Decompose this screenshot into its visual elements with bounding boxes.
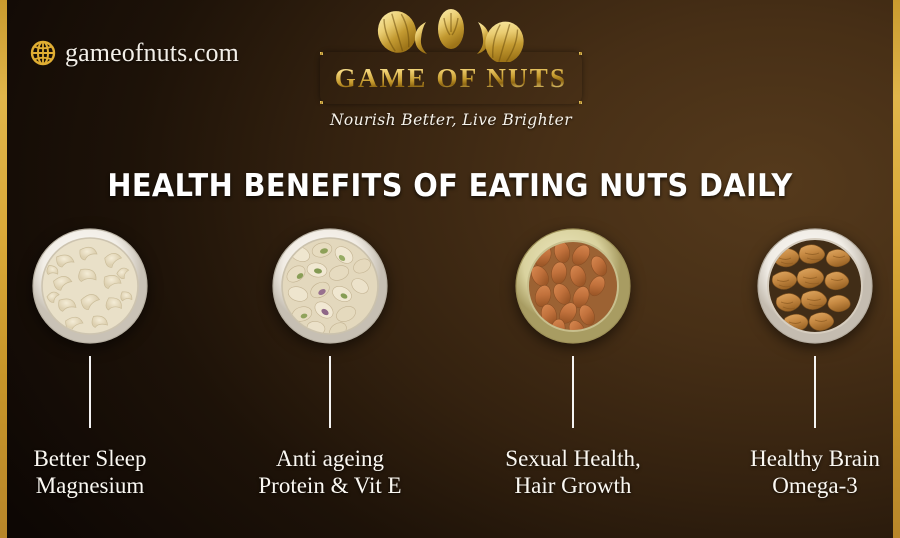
globe-icon xyxy=(30,40,56,66)
logo-frame: GAME OF NUTS xyxy=(320,52,582,104)
benefit-caption: Healthy Brain Omega-3 xyxy=(705,446,900,499)
right-gold-border xyxy=(893,0,900,538)
benefit-caption: Anti ageing Protein & Vit E xyxy=(220,446,440,499)
connector-line xyxy=(89,356,91,428)
cashew-bowl-icon xyxy=(32,228,148,344)
benefits-row: Better Sleep Magnesium xyxy=(0,228,900,528)
website-label: gameofnuts.com xyxy=(30,38,239,68)
benefit-item-cashews: Better Sleep Magnesium xyxy=(0,228,200,499)
benefit-line-2: Omega-3 xyxy=(705,473,900,500)
benefit-line-1: Anti ageing xyxy=(276,446,384,471)
logo-name-text: GAME OF NUTS xyxy=(335,63,567,94)
brand-logo: GAME OF NUTS Nourish Better, Live Bright… xyxy=(306,4,596,129)
walnut-bowl-icon xyxy=(757,228,873,344)
pistachio-bowl-icon xyxy=(272,228,388,344)
connector-line xyxy=(814,356,816,428)
left-gold-border xyxy=(0,0,7,538)
website-url-text: gameofnuts.com xyxy=(65,38,239,68)
connector-line xyxy=(572,356,574,428)
benefit-line-2: Protein & Vit E xyxy=(220,473,440,500)
benefit-line-2: Hair Growth xyxy=(463,473,683,500)
page-title: HEALTH BENEFITS OF EATING NUTS DAILY xyxy=(32,168,869,204)
benefit-line-1: Healthy Brain xyxy=(750,446,880,471)
benefit-line-1: Sexual Health, xyxy=(505,446,640,471)
benefit-caption: Sexual Health, Hair Growth xyxy=(463,446,683,499)
almond-bowl-icon xyxy=(515,228,631,344)
connector-line xyxy=(329,356,331,428)
brand-tagline: Nourish Better, Live Brighter xyxy=(306,111,596,129)
benefit-caption: Better Sleep Magnesium xyxy=(0,446,200,499)
benefit-item-pistachios: Anti ageing Protein & Vit E xyxy=(220,228,440,499)
benefit-item-walnuts: Healthy Brain Omega-3 xyxy=(705,228,900,499)
benefit-line-1: Better Sleep xyxy=(33,446,146,471)
infographic-poster: gameofnuts.com xyxy=(0,0,900,538)
benefit-item-almonds: Sexual Health, Hair Growth xyxy=(463,228,683,499)
benefit-line-2: Magnesium xyxy=(0,473,200,500)
